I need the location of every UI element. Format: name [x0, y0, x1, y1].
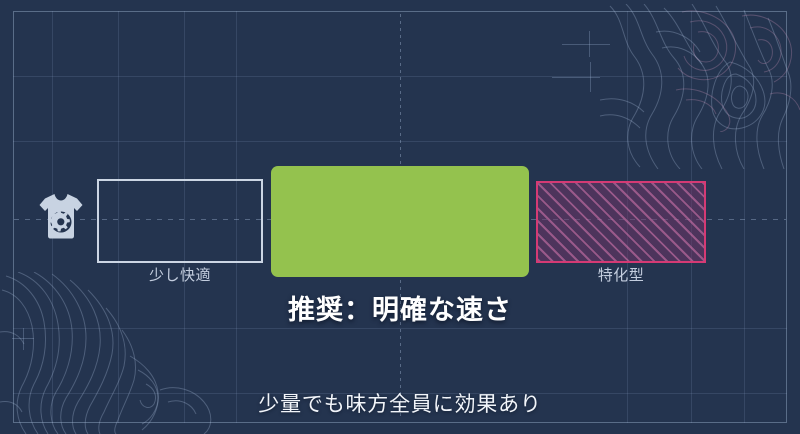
- slide-canvas: 少し快適 特化型 推奨：明確な速さ 少量でも味方全員に効果あり: [0, 0, 800, 434]
- bar-label-specialized: 特化型: [536, 264, 706, 285]
- bar-label-low: 少し快適: [97, 264, 263, 285]
- bar-segment-specialized[interactable]: [536, 181, 706, 263]
- stat-bar-chart: 少し快適 特化型 推奨：明確な速さ 少量でも味方全員に効果あり: [0, 0, 800, 434]
- caption-text: 少量でも味方全員に効果あり: [0, 388, 800, 418]
- tshirt-gear-icon: [38, 192, 84, 240]
- bar-segment-recommended[interactable]: [271, 166, 529, 277]
- headline-text: 推奨：明確な速さ: [0, 288, 800, 327]
- bar-segment-low[interactable]: [97, 179, 263, 263]
